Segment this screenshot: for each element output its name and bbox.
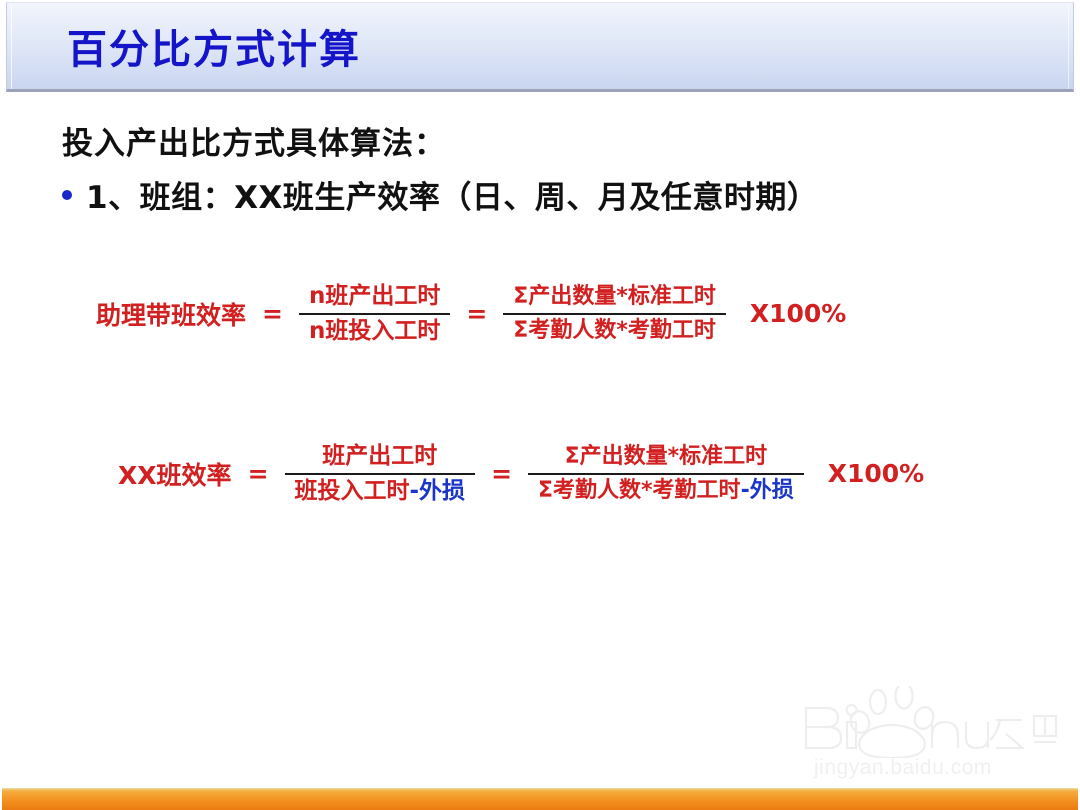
formula-2-percent: X100% bbox=[828, 459, 925, 488]
formula-1-left-denominator: n班投入工时 bbox=[299, 315, 450, 348]
slide-canvas: 百分比方式计算 投入产出比方式具体算法： 1、班组：XX班生产效率（日、周、月及… bbox=[0, 0, 1080, 810]
formula-2-right-denominator-suffix: -外损 bbox=[741, 478, 794, 503]
formula-1-equals-2: = bbox=[466, 299, 487, 328]
formula-2-left-denominator-suffix: -外损 bbox=[410, 478, 466, 504]
formula-1-right-numerator: Σ产出数量*标准工时 bbox=[503, 281, 726, 313]
bottom-accent-bar bbox=[2, 788, 1078, 810]
slide-title-bar: 百分比方式计算 bbox=[6, 2, 1074, 92]
bullet-dot-icon bbox=[62, 190, 72, 200]
lead-heading: 投入产出比方式具体算法： bbox=[62, 118, 446, 163]
formula-2-right-numerator: Σ产出数量*标准工时 bbox=[555, 441, 778, 473]
formula-1-equals-1: = bbox=[262, 299, 283, 328]
formula-2-equals-1: = bbox=[248, 459, 269, 488]
bullet-list-item: 1、班组：XX班生产效率（日、周、月及任意时期） bbox=[62, 172, 818, 217]
formula-1-fraction-right: Σ产出数量*标准工时 Σ考勤人数*考勤工时 bbox=[503, 281, 726, 346]
formula-2-fraction-right: Σ产出数量*标准工时 Σ考勤人数*考勤工时-外损 bbox=[528, 441, 804, 506]
baidu-logo-icon bbox=[800, 686, 1062, 758]
formula-2-left-denominator-text: 班投入工时 bbox=[295, 478, 410, 504]
formula-2-right-denominator: Σ考勤人数*考勤工时-外损 bbox=[528, 475, 804, 507]
formula-2-right-denominator-text: Σ考勤人数*考勤工时 bbox=[538, 478, 741, 503]
formula-2-label: XX班效率 bbox=[118, 456, 232, 492]
formula-1-left-numerator: n班产出工时 bbox=[299, 280, 450, 313]
watermark-url: jingyan.baidu.com bbox=[814, 756, 992, 780]
formula-1-percent: X100% bbox=[750, 299, 847, 328]
formula-2-equals-2: = bbox=[491, 459, 512, 488]
formula-2-left-denominator: 班投入工时-外损 bbox=[285, 475, 476, 508]
formula-shift-efficiency: XX班效率 = 班产出工时 班投入工时-外损 = Σ产出数量*标准工时 Σ考勤人… bbox=[118, 440, 924, 508]
bullet-item-label: 1、班组：XX班生产效率（日、周、月及任意时期） bbox=[86, 172, 818, 217]
page-title: 百分比方式计算 bbox=[67, 17, 361, 75]
formula-2-left-numerator: 班产出工时 bbox=[312, 440, 447, 473]
formula-assistant-shift-efficiency: 助理带班效率 = n班产出工时 n班投入工时 = Σ产出数量*标准工时 Σ考勤人… bbox=[96, 280, 846, 348]
baidu-jingyan-watermark: jingyan.baidu.com bbox=[800, 686, 1062, 782]
formula-1-label: 助理带班效率 bbox=[96, 296, 246, 332]
formula-1-fraction-left: n班产出工时 n班投入工时 bbox=[299, 280, 450, 348]
formula-1-right-denominator-text: Σ考勤人数*考勤工时 bbox=[513, 318, 716, 343]
formula-2-fraction-left: 班产出工时 班投入工时-外损 bbox=[285, 440, 476, 508]
formula-1-right-denominator: Σ考勤人数*考勤工时 bbox=[503, 315, 726, 347]
